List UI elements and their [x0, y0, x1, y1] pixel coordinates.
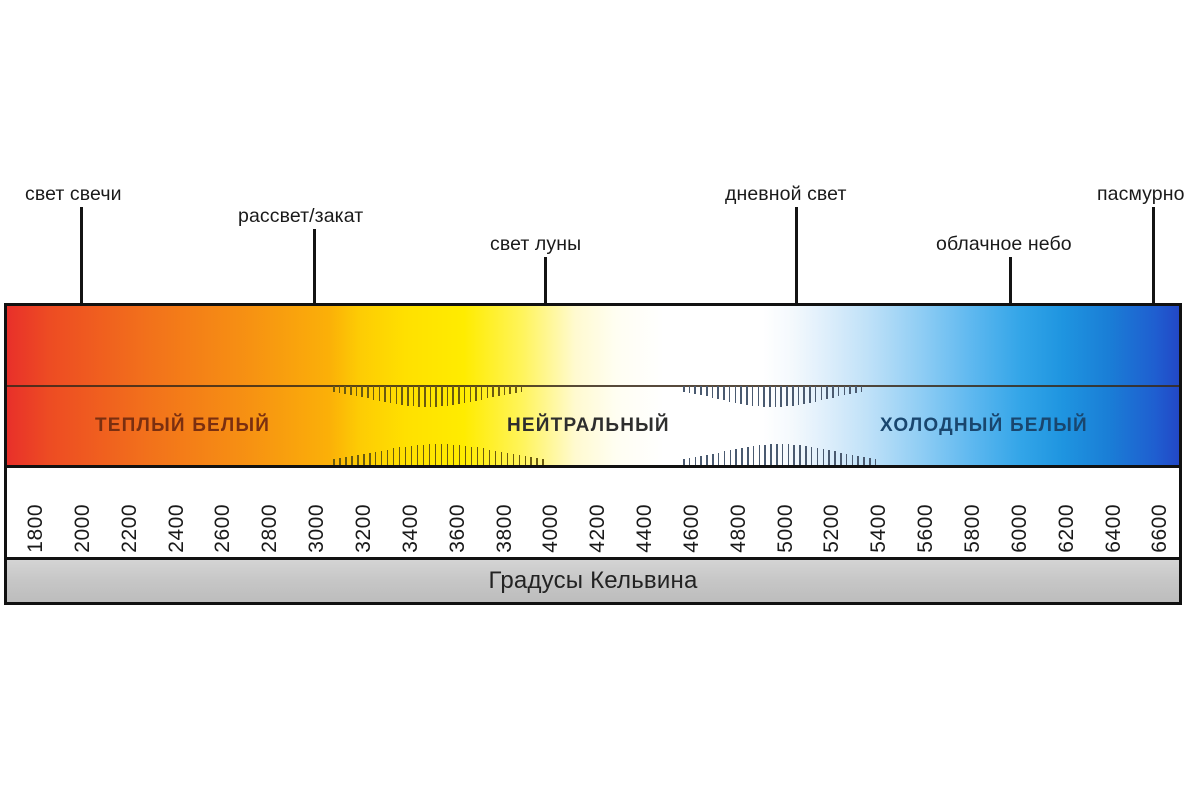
kelvin-tick-label: 2000 — [72, 504, 93, 553]
color-temperature-figure: ТЕПЛЫЙ БЕЛЫЙ НЕЙТРАЛЬНЫЙ ХОЛОДНЫЙ БЕЛЫЙ … — [4, 303, 1182, 605]
kelvin-tick-label: 4800 — [728, 504, 749, 553]
kelvin-tick-label: 1800 — [25, 504, 46, 553]
kelvin-tick-label: 3600 — [447, 504, 468, 553]
kelvin-tick-label: 3000 — [306, 504, 327, 553]
band-label-neutral: НЕЙТРАЛЬНЫЙ — [507, 415, 670, 437]
kelvin-caption-bar: Градусы Кельвина — [4, 560, 1182, 605]
kelvin-tick-label: 2600 — [212, 504, 233, 553]
callout-label-overcast: пасмурно — [1097, 183, 1185, 206]
kelvin-tick-label: 3200 — [353, 504, 374, 553]
kelvin-tick-label: 2400 — [166, 504, 187, 553]
band-label-cold-white: ХОЛОДНЫЙ БЕЛЫЙ — [880, 415, 1088, 437]
kelvin-tick-label: 4600 — [681, 504, 702, 553]
kelvin-tick-label: 5400 — [868, 504, 889, 553]
callout-label-moonlight: свет луны — [490, 233, 581, 256]
kelvin-tick-label: 3400 — [400, 504, 421, 553]
band-label-warm-white: ТЕПЛЫЙ БЕЛЫЙ — [95, 415, 270, 437]
callout-label-daylight: дневной свет — [725, 183, 847, 206]
kelvin-tick-label: 4200 — [587, 504, 608, 553]
kelvin-tick-label: 4000 — [540, 504, 561, 553]
kelvin-tick-label: 6600 — [1149, 504, 1170, 553]
kelvin-tick-label: 2200 — [119, 504, 140, 553]
color-temperature-gradient-strip: ТЕПЛЫЙ БЕЛЫЙ НЕЙТРАЛЬНЫЙ ХОЛОДНЫЙ БЕЛЫЙ — [4, 303, 1182, 468]
kelvin-tick-label: 4400 — [634, 504, 655, 553]
callout-label-cloudy-sky: облачное небо — [936, 233, 1072, 256]
kelvin-tick-label: 6000 — [1009, 504, 1030, 553]
kelvin-scale-row: 1800200022002400260028003000320034003600… — [4, 468, 1182, 560]
callout-label-candle: свет свечи — [25, 183, 122, 206]
band-label-group: ТЕПЛЫЙ БЕЛЫЙ НЕЙТРАЛЬНЫЙ ХОЛОДНЫЙ БЕЛЫЙ — [7, 385, 1179, 465]
kelvin-tick-label: 2800 — [259, 504, 280, 553]
kelvin-tick-label: 5200 — [821, 504, 842, 553]
kelvin-tick-label: 6400 — [1103, 504, 1124, 553]
kelvin-tick-label: 3800 — [494, 504, 515, 553]
callout-label-sunrise-sunset: рассвет/закат — [238, 205, 363, 228]
kelvin-tick-label: 6200 — [1056, 504, 1077, 553]
kelvin-caption-text: Градусы Кельвина — [489, 567, 698, 595]
kelvin-tick-label: 5600 — [915, 504, 936, 553]
kelvin-tick-label: 5800 — [962, 504, 983, 553]
kelvin-tick-label: 5000 — [775, 504, 796, 553]
